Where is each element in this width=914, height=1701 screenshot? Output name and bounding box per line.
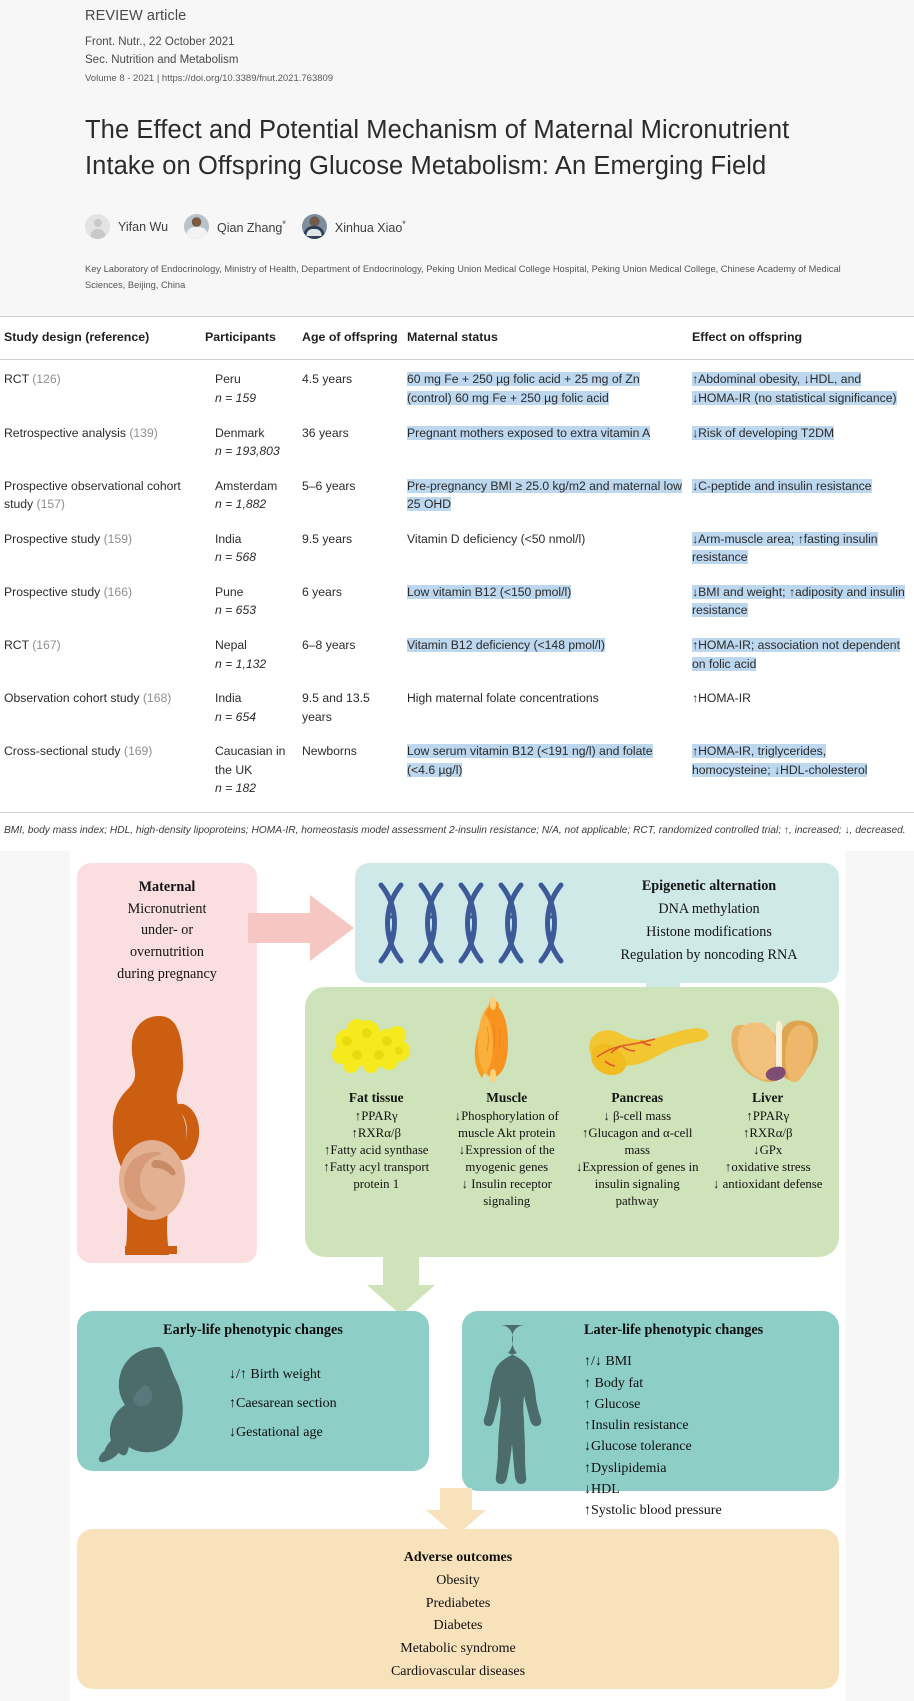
cell-study-design: Prospective study (159) — [0, 520, 205, 573]
cell-participants: Amsterdamn = 1,882 — [205, 467, 302, 520]
adverse-outcomes-box: Adverse outcomes Obesity Prediabetes Dia… — [77, 1529, 839, 1689]
cell-participants: Indian = 654 — [205, 679, 302, 732]
organ-line: ↓ β-cell mass — [572, 1108, 703, 1125]
list-item: Cardiovascular diseases — [77, 1661, 839, 1684]
author-name[interactable]: Qian Zhang* — [217, 219, 286, 235]
table-row: Prospective observational cohort study (… — [0, 467, 914, 520]
author-name[interactable]: Yifan Wu — [118, 220, 168, 234]
cell-effect: ↑Abdominal obesity, ↓HDL, and ↓HOMA-IR (… — [692, 360, 914, 414]
cell-effect: ↑HOMA-IR; association not dependent on f… — [692, 626, 914, 679]
organ-line: ↓Expression of genes in insulin signalin… — [572, 1159, 703, 1210]
study-design-text: RCT — [4, 372, 32, 386]
organ-columns: Fat tissue ↑PPARγ ↑RXRα/β ↑Fatty acid sy… — [305, 1089, 839, 1210]
reference-link[interactable]: (167) — [32, 638, 60, 652]
early-life-list: ↓/↑ Birth weight ↑Caesarean section ↓Ges… — [229, 1361, 337, 1447]
organ-box: Fat tissue ↑PPARγ ↑RXRα/β ↑Fatty acid sy… — [305, 987, 839, 1257]
figure-canvas: Maternal Micronutrient under- or overnut… — [70, 851, 845, 1701]
study-design-text: Observation cohort study — [4, 691, 143, 705]
cell-effect: ↓BMI and weight; ↑adiposity and insulin … — [692, 573, 914, 626]
early-life-title: Early-life phenotypic changes — [77, 1311, 429, 1339]
author-photo-icon — [302, 214, 327, 239]
adverse-outcomes-title: Adverse outcomes — [77, 1547, 839, 1570]
article-header: REVIEW article Front. Nutr., 22 October … — [0, 0, 914, 294]
cell-study-design: Cross-sectional study (169) — [0, 732, 205, 812]
cell-maternal-status: Pregnant mothers exposed to extra vitami… — [407, 414, 692, 467]
epigenetic-line: Histone modifications — [583, 921, 835, 944]
organ-column-liver: Liver ↑PPARγ ↑RXRα/β ↓GPx ↑oxidative str… — [703, 1089, 834, 1210]
cell-effect: ↑HOMA-IR — [692, 679, 914, 732]
study-design-text: RCT — [4, 638, 32, 652]
cell-effect: ↓Risk of developing T2DM — [692, 414, 914, 467]
reference-link[interactable]: (139) — [129, 426, 157, 440]
cell-maternal-status: High maternal folate concentrations — [407, 679, 692, 732]
cell-study-design: Retrospective analysis (139) — [0, 414, 205, 467]
author-name[interactable]: Xinhua Xiao* — [335, 219, 406, 235]
adult-human-icon — [476, 1323, 574, 1488]
participants-n: n = 1,882 — [215, 497, 266, 511]
cell-effect: ↑HOMA-IR, triglycerides, homocysteine; ↓… — [692, 732, 914, 812]
author-name-text: Xinhua Xiao — [335, 221, 402, 235]
participants-n: n = 654 — [215, 710, 256, 724]
participants-n: n = 193,803 — [215, 444, 280, 458]
maternal-status-text: Vitamin B12 deficiency (<148 pmol/l) — [407, 638, 605, 652]
mechanism-figure: Maternal Micronutrient under- or overnut… — [0, 851, 914, 1701]
maternal-status-text: Low serum vitamin B12 (<191 ng/l) and fo… — [407, 744, 653, 777]
epigenetic-line: DNA methylation — [583, 898, 835, 921]
column-header-participants: Participants — [205, 316, 302, 360]
organ-name: Liver — [703, 1089, 834, 1107]
early-life-box: Early-life phenotypic changes ↓/↑ Birth … — [77, 1311, 429, 1471]
list-item: Prediabetes — [77, 1593, 839, 1616]
maternal-text: Maternal Micronutrient under- or overnut… — [77, 877, 257, 985]
cell-study-design: RCT (126) — [0, 360, 205, 414]
effect-text: ↓C-peptide and insulin resistance — [692, 479, 872, 493]
fat-tissue-icon — [332, 1019, 410, 1073]
article-page: REVIEW article Front. Nutr., 22 October … — [0, 0, 914, 1701]
column-header-study-design: Study design (reference) — [0, 316, 205, 360]
participants-n: n = 1,132 — [215, 657, 266, 671]
cell-age: Newborns — [302, 732, 407, 812]
epigenetic-title: Epigenetic alternation — [583, 875, 835, 898]
pregnant-woman-icon — [99, 1008, 239, 1258]
maternal-status-text: Vitamin D deficiency (<50 nmol/l) — [407, 532, 585, 546]
list-item: Metabolic syndrome — [77, 1638, 839, 1661]
journal-citation: Front. Nutr., 22 October 2021 — [85, 34, 914, 52]
epigenetic-text: Epigenetic alternation DNA methylation H… — [583, 875, 835, 967]
maternal-status-text: Pregnant mothers exposed to extra vitami… — [407, 426, 650, 440]
participants-location: Nepal — [215, 638, 247, 652]
journal-section: Sec. Nutrition and Metabolism — [85, 52, 914, 70]
organ-line: ↓Phosphorylation of muscle Akt protein — [442, 1108, 573, 1142]
cell-effect: ↓C-peptide and insulin resistance — [692, 467, 914, 520]
effect-text: ↑Abdominal obesity, ↓HDL, and ↓HOMA-IR (… — [692, 372, 897, 405]
cell-study-design: RCT (167) — [0, 626, 205, 679]
participants-location: Amsterdam — [215, 479, 277, 493]
organ-name: Fat tissue — [311, 1089, 442, 1107]
cell-effect: ↓Arm-muscle area; ↑fasting insulin resis… — [692, 520, 914, 573]
organ-line: ↑Glucagon and α-cell mass — [572, 1125, 703, 1159]
cell-participants: Nepaln = 1,132 — [205, 626, 302, 679]
participants-location: Caucasian in the UK — [215, 744, 285, 777]
reference-link[interactable]: (157) — [37, 497, 65, 511]
author-photo-icon — [184, 214, 209, 239]
study-design-text: Prospective study — [4, 532, 104, 546]
reference-link[interactable]: (159) — [104, 532, 132, 546]
organ-line: ↓ Insulin receptor signaling — [442, 1176, 573, 1210]
later-life-box: Later-life phenotypic changes ↑/↓ BMI ↑ … — [462, 1311, 839, 1491]
study-design-text: Prospective study — [4, 585, 104, 599]
organ-name: Muscle — [442, 1089, 573, 1107]
effect-text: ↑HOMA-IR; association not dependent on f… — [692, 638, 900, 671]
pancreas-icon — [589, 1029, 708, 1076]
liver-icon — [731, 1021, 818, 1083]
cell-maternal-status: Vitamin D deficiency (<50 nmol/l) — [407, 520, 692, 573]
table-row: Cross-sectional study (169) Caucasian in… — [0, 732, 914, 812]
list-item: ↑Systolic blood pressure — [584, 1500, 722, 1521]
organ-line: ↑Fatty acyl transport protein 1 — [311, 1159, 442, 1193]
organ-name: Pancreas — [572, 1089, 703, 1107]
adverse-outcomes-text: Adverse outcomes Obesity Prediabetes Dia… — [77, 1529, 839, 1683]
organ-line: ↑PPARγ — [703, 1108, 834, 1125]
cell-age: 6 years — [302, 573, 407, 626]
organ-column-fat: Fat tissue ↑PPARγ ↑RXRα/β ↑Fatty acid sy… — [311, 1089, 442, 1210]
later-life-list: ↑/↓ BMI ↑ Body fat ↑ Glucose ↑Insulin re… — [584, 1351, 722, 1521]
list-item: ↑Dyslipidemia — [584, 1458, 722, 1479]
cell-age: 9.5 years — [302, 520, 407, 573]
list-item: ↑Insulin resistance — [584, 1415, 722, 1436]
organ-line: ↑PPARγ — [311, 1108, 442, 1125]
table-row: RCT (167) Nepaln = 1,132 6–8 years Vitam… — [0, 626, 914, 679]
arrow-right-pink-icon — [248, 893, 356, 963]
table-row: Prospective study (166) Punen = 653 6 ye… — [0, 573, 914, 626]
arrow-down-green-icon — [367, 1255, 435, 1315]
epigenetic-line: Regulation by noncoding RNA — [583, 944, 835, 967]
fetus-icon — [97, 1343, 215, 1463]
organ-line: ↑oxidative stress — [703, 1159, 834, 1176]
cell-maternal-status: Low vitamin B12 (<150 pmol/l) — [407, 573, 692, 626]
cell-participants: Denmarkn = 193,803 — [205, 414, 302, 467]
effect-text: ↓Risk of developing T2DM — [692, 426, 834, 440]
table-header-row: Study design (reference) Participants Ag… — [0, 316, 914, 360]
table-row: Retrospective analysis (139) Denmarkn = … — [0, 414, 914, 467]
list-item: ↓HDL — [584, 1479, 722, 1500]
participants-location: Pune — [215, 585, 243, 599]
article-type-label: REVIEW article — [85, 8, 914, 24]
cell-age: 4.5 years — [302, 360, 407, 414]
maternal-box: Maternal Micronutrient under- or overnut… — [77, 863, 257, 1263]
cell-age: 9.5 and 13.5 years — [302, 679, 407, 732]
author-item[interactable]: Yifan Wu — [85, 214, 168, 239]
cell-study-design: Observation cohort study (168) — [0, 679, 205, 732]
author-item[interactable]: Xinhua Xiao* — [302, 214, 406, 239]
affiliation: Key Laboratory of Endocrinology, Ministr… — [85, 261, 855, 294]
reference-link[interactable]: (166) — [104, 585, 132, 599]
cell-participants: Caucasian in the UKn = 182 — [205, 732, 302, 812]
maternal-status-text: Low vitamin B12 (<150 pmol/l) — [407, 585, 571, 599]
organ-column-pancreas: Pancreas ↓ β-cell mass ↑Glucagon and α-c… — [572, 1089, 703, 1210]
cell-participants: Indian = 568 — [205, 520, 302, 573]
organ-line: ↑Fatty acid synthase — [311, 1142, 442, 1159]
cell-maternal-status: Vitamin B12 deficiency (<148 pmol/l) — [407, 626, 692, 679]
participants-n: n = 159 — [215, 391, 256, 405]
cell-participants: Punen = 653 — [205, 573, 302, 626]
study-design-text: Prospective observational cohort study — [4, 479, 181, 512]
list-item: ↓Gestational age — [229, 1419, 337, 1448]
list-item: ↓/↑ Birth weight — [229, 1361, 337, 1390]
author-list: Yifan Wu Qian Zhang* Xinhua Xiao* — [85, 214, 914, 239]
organ-illustrations — [305, 997, 839, 1082]
cell-maternal-status: Low serum vitamin B12 (<191 ng/l) and fo… — [407, 732, 692, 812]
organ-line: ↑RXRα/β — [703, 1125, 834, 1142]
participants-location: Denmark — [215, 426, 264, 440]
dna-helix-icon — [373, 877, 578, 969]
list-item: ↑Caesarean section — [229, 1390, 337, 1419]
studies-table: Study design (reference) Participants Ag… — [0, 316, 914, 812]
participants-location: India — [215, 532, 241, 546]
maternal-status-text: 60 mg Fe + 250 µg folic acid + 25 mg of … — [407, 372, 640, 405]
generic-avatar-icon — [85, 214, 110, 239]
reference-link[interactable]: (169) — [124, 744, 152, 758]
participants-location: India — [215, 691, 241, 705]
author-name-text: Qian Zhang — [217, 221, 282, 235]
study-design-text: Cross-sectional study — [4, 744, 124, 758]
reference-link[interactable]: (168) — [143, 691, 171, 705]
organ-line: ↓ antioxidant defense — [703, 1176, 834, 1193]
cell-age: 5–6 years — [302, 467, 407, 520]
participants-location: Peru — [215, 372, 241, 386]
effect-text: ↓BMI and weight; ↑adiposity and insulin … — [692, 585, 905, 618]
participants-n: n = 182 — [215, 781, 256, 795]
corresponding-author-marker: * — [402, 219, 406, 229]
organ-line: ↓Expression of the myogenic genes — [442, 1142, 573, 1176]
list-item: ↑/↓ BMI — [584, 1351, 722, 1372]
effect-text: ↑HOMA-IR, triglycerides, homocysteine; ↓… — [692, 744, 867, 777]
author-item[interactable]: Qian Zhang* — [184, 214, 286, 239]
organ-line: ↑RXRα/β — [311, 1125, 442, 1142]
cell-study-design: Prospective observational cohort study (… — [0, 467, 205, 520]
list-item: ↓Glucose tolerance — [584, 1436, 722, 1457]
list-item: ↑ Glucose — [584, 1394, 722, 1415]
participants-n: n = 568 — [215, 550, 256, 564]
maternal-status-text: Pre-pregnancy BMI ≥ 25.0 kg/m2 and mater… — [407, 479, 682, 512]
maternal-line: under- or — [77, 920, 257, 942]
organ-line: ↓GPx — [703, 1142, 834, 1159]
cell-age: 6–8 years — [302, 626, 407, 679]
column-header-age: Age of offspring — [302, 316, 407, 360]
cell-participants: Perun = 159 — [205, 360, 302, 414]
cell-maternal-status: 60 mg Fe + 250 µg folic acid + 25 mg of … — [407, 360, 692, 414]
table-row: Observation cohort study (168) Indian = … — [0, 679, 914, 732]
studies-table-wrap: Study design (reference) Participants Ag… — [0, 316, 914, 852]
list-item: ↑ Body fat — [584, 1373, 722, 1394]
table-row: Prospective study (159) Indian = 568 9.5… — [0, 520, 914, 573]
reference-link[interactable]: (126) — [32, 372, 60, 386]
list-item: Obesity — [77, 1570, 839, 1593]
corresponding-author-marker: * — [282, 219, 286, 229]
study-design-text: Retrospective analysis — [4, 426, 129, 440]
muscle-icon — [475, 997, 508, 1082]
cell-study-design: Prospective study (166) — [0, 573, 205, 626]
maternal-title: Maternal — [77, 877, 257, 899]
list-item: Diabetes — [77, 1615, 839, 1638]
epigenetic-box: Epigenetic alternation DNA methylation H… — [355, 863, 839, 983]
table-footnote: BMI, body mass index; HDL, high-density … — [0, 813, 914, 852]
organ-column-muscle: Muscle ↓Phosphorylation of muscle Akt pr… — [442, 1089, 573, 1210]
maternal-line: Micronutrient — [77, 899, 257, 921]
maternal-line: during pregnancy — [77, 964, 257, 986]
table-row: RCT (126) Perun = 159 4.5 years 60 mg Fe… — [0, 360, 914, 414]
page-title: The Effect and Potential Mechanism of Ma… — [85, 112, 855, 184]
column-header-effect: Effect on offspring — [692, 316, 914, 360]
cell-maternal-status: Pre-pregnancy BMI ≥ 25.0 kg/m2 and mater… — [407, 467, 692, 520]
effect-text: ↓Arm-muscle area; ↑fasting insulin resis… — [692, 532, 878, 565]
maternal-line: overnutrition — [77, 942, 257, 964]
volume-doi[interactable]: Volume 8 - 2021 | https://doi.org/10.338… — [85, 71, 914, 86]
cell-age: 36 years — [302, 414, 407, 467]
participants-n: n = 653 — [215, 603, 256, 617]
column-header-maternal-status: Maternal status — [407, 316, 692, 360]
